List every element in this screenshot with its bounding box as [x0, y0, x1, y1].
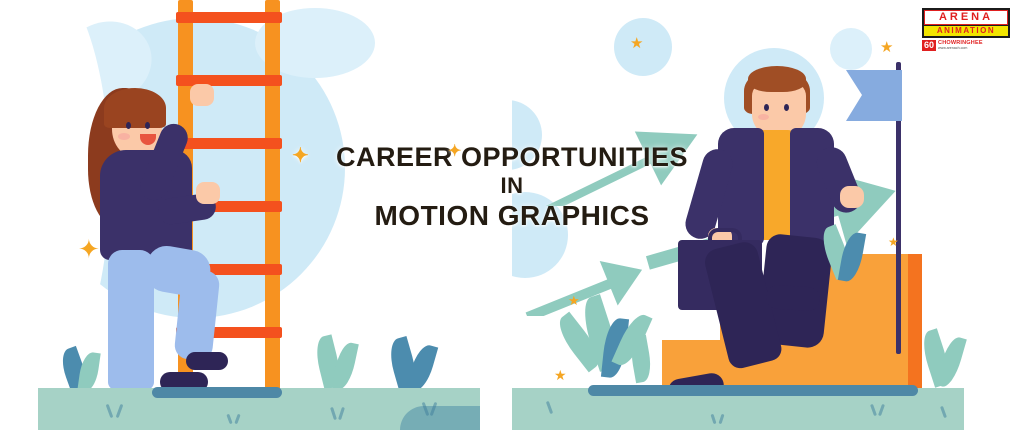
man-eye-right	[784, 104, 789, 111]
plant-leaf	[77, 351, 100, 393]
star-icon: ★	[888, 236, 899, 248]
woman-shoe-back	[186, 352, 228, 370]
star-icon: ★	[568, 294, 580, 307]
logo-frame: ARENA ANIMATION	[922, 8, 1010, 38]
man-shoe-front	[765, 284, 821, 312]
logo-brand-bar: ARENA	[924, 10, 1008, 25]
arena-animation-logo[interactable]: ARENA ANIMATION 60 CHOWRINGHEE www.arena…	[922, 8, 1010, 51]
logo-center-info: CHOWRINGHEE www.arenach.com	[938, 40, 983, 51]
ladder-rung	[176, 75, 282, 86]
logo-subbrand-text: ANIMATION	[924, 26, 1008, 36]
woman-shin-back	[173, 268, 220, 361]
headline-line-1: CAREER OPPORTUNITIES	[0, 142, 1024, 173]
man-hair-fringe	[748, 66, 806, 92]
star-icon: ★	[880, 40, 893, 55]
logo-footer: 60 CHOWRINGHEE www.arenach.com	[922, 40, 1010, 51]
stair-side-face	[908, 254, 922, 390]
logo-anniversary-badge: 60	[922, 40, 936, 51]
sparkle-icon: ✦	[292, 146, 309, 166]
logo-brand-text: ARENA	[925, 11, 1007, 24]
star-icon: ★	[554, 368, 567, 382]
man-eye-left	[764, 104, 769, 111]
woman-hair-front	[104, 88, 166, 128]
background-blob	[830, 28, 872, 70]
headline-line-3: MOTION GRAPHICS	[0, 199, 1024, 233]
plant-leaf	[331, 341, 359, 392]
logo-website: www.arenach.com	[938, 46, 983, 51]
woman-eye-left	[126, 122, 131, 129]
woman-hand-upper	[190, 84, 214, 106]
stairs-base-plinth	[588, 385, 918, 396]
logo-subbrand-bar: ANIMATION	[924, 26, 1008, 36]
sparkle-icon: ✦	[78, 236, 100, 262]
woman-blush	[118, 133, 130, 140]
man-blush	[758, 114, 769, 120]
ground-shadow	[400, 406, 480, 430]
ladder-base-plinth	[152, 387, 282, 398]
headline-line-2: IN	[0, 173, 1024, 199]
star-icon: ★	[630, 36, 643, 51]
woman-eye-right	[145, 122, 150, 129]
ladder-rung	[176, 12, 282, 23]
flag-icon	[844, 70, 902, 122]
sparkle-icon: ✦	[448, 144, 462, 160]
headline-block: ✦ ✦ CAREER OPPORTUNITIES IN MOTION GRAPH…	[0, 142, 1024, 233]
promotional-banner: ✦	[0, 0, 1024, 430]
